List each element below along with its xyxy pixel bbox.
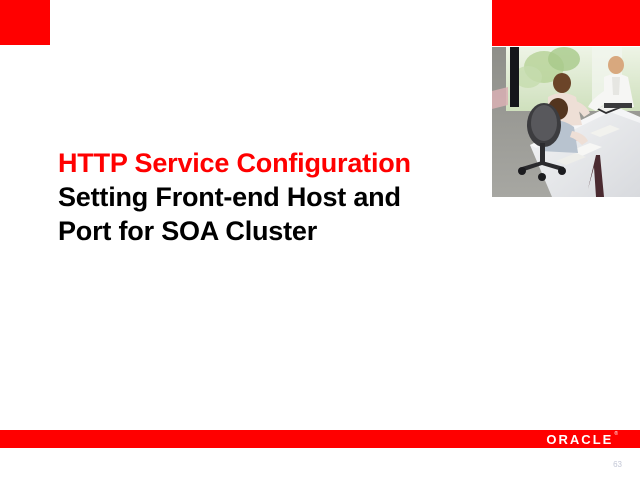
footer-red-bar	[0, 430, 640, 448]
slide-title-line-1: HTTP Service Configuration	[58, 146, 478, 180]
top-right-red-block	[492, 0, 640, 46]
slide-canvas: HTTP Service Configuration Setting Front…	[0, 0, 640, 480]
top-left-red-block	[0, 0, 50, 45]
page-number: 63	[613, 460, 622, 470]
hero-photo	[492, 47, 640, 197]
slide-title-block: HTTP Service Configuration Setting Front…	[58, 146, 478, 248]
oracle-logo: ORACLE ®	[546, 431, 618, 447]
oracle-wordmark-text: ORACLE	[546, 433, 613, 446]
slide-title-line-3: Port for SOA Cluster	[58, 214, 478, 248]
office-meeting-photo-illustration	[492, 47, 640, 197]
registered-trademark-icon: ®	[614, 432, 618, 437]
slide-title-line-2: Setting Front-end Host and	[58, 180, 478, 214]
